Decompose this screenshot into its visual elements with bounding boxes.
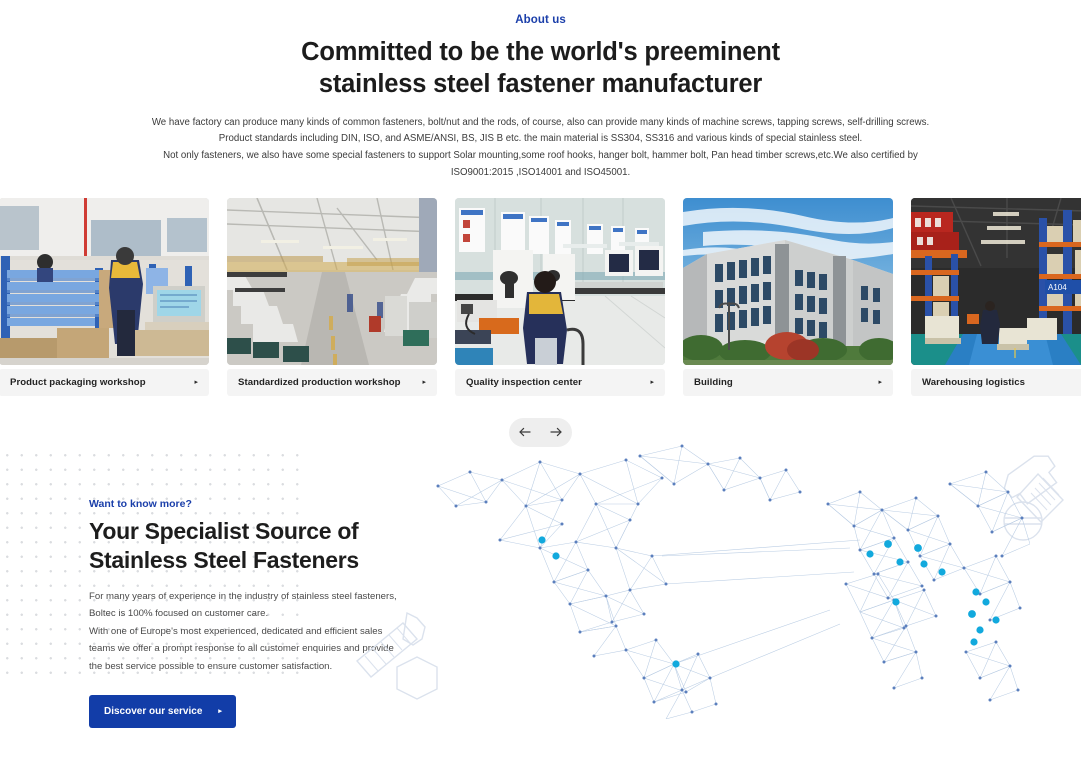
carousel-caption[interactable]: Quality inspection center ▸ xyxy=(455,369,665,396)
carousel-caption[interactable]: Standardized production workshop ▸ xyxy=(227,369,437,396)
about-eyebrow: About us xyxy=(0,14,1081,26)
about-paragraph: We have factory can produce many kinds o… xyxy=(0,115,1081,182)
quality-inspection-center-photo[interactable] xyxy=(455,198,665,365)
facility-carousel[interactable]: Product packaging workshop ▸ xyxy=(0,198,1081,396)
carousel-card[interactable]: Quality inspection center ▸ xyxy=(455,198,665,396)
about-copy-line-4: ISO9001:2015 ,ISO14001 and ISO45001. xyxy=(0,165,1081,182)
service-title-line-2: Stainless Steel Fasteners xyxy=(89,547,359,573)
carousel-caption[interactable]: Building ▸ xyxy=(683,369,893,396)
chevron-right-icon: ▸ xyxy=(650,379,654,386)
page-title: Committed to be the world's preeminent s… xyxy=(0,36,1081,101)
carousel-caption[interactable]: Product packaging workshop ▸ xyxy=(0,369,209,396)
chevron-right-icon: ▸ xyxy=(218,708,222,715)
carousel-caption-label: Building xyxy=(694,377,733,388)
global-network-map xyxy=(430,444,1030,719)
carousel-card[interactable]: A103 A104 xyxy=(911,198,1081,396)
carousel-caption-label: Product packaging workshop xyxy=(10,377,146,388)
cta-label: Discover our service xyxy=(104,706,202,717)
service-promo-section: Want to know more? Your Specialist Sourc… xyxy=(0,440,1081,757)
about-section: About us Committed to be the world's pre… xyxy=(0,0,1081,182)
about-copy-line-2: Product standards including DIN, ISO, an… xyxy=(0,131,1081,148)
standardized-production-workshop-photo[interactable] xyxy=(227,198,437,365)
carousel-caption-label: Standardized production workshop xyxy=(238,377,401,388)
carousel-card[interactable]: Product packaging workshop ▸ xyxy=(0,198,209,396)
svg-text:A104: A104 xyxy=(1048,283,1067,292)
chevron-right-icon: ▸ xyxy=(422,379,426,386)
warehousing-logistics-photo[interactable]: A103 A104 xyxy=(911,198,1081,365)
carousel-caption-label: Quality inspection center xyxy=(466,377,582,388)
headline-line-2: stainless steel fastener manufacturer xyxy=(319,70,762,98)
world-network-map-graphic xyxy=(430,444,1030,719)
map-nodes xyxy=(437,445,1024,714)
carousel-card[interactable]: Building ▸ xyxy=(683,198,893,396)
carousel-card[interactable]: Standardized production workshop ▸ xyxy=(227,198,437,396)
carousel-caption[interactable]: Warehousing logistics ▸ xyxy=(911,369,1081,396)
carousel-caption-label: Warehousing logistics xyxy=(922,377,1025,388)
map-connection-lines xyxy=(438,446,1030,719)
about-copy-line-3: Not only fasteners, we also have some sp… xyxy=(0,148,1081,165)
arrow-right-icon xyxy=(548,424,564,440)
building-photo[interactable] xyxy=(683,198,893,365)
service-promo-eyebrow: Want to know more? xyxy=(89,498,407,510)
chevron-right-icon: ▸ xyxy=(194,379,198,386)
about-copy-line-1: We have factory can produce many kinds o… xyxy=(0,115,1081,132)
product-packaging-workshop-photo[interactable] xyxy=(0,198,209,365)
service-promo-title: Your Specialist Source of Stainless Stee… xyxy=(89,517,407,576)
service-copy-line-1: For many years of experience in the indu… xyxy=(89,588,407,605)
service-title-line-1: Your Specialist Source of xyxy=(89,518,358,544)
discover-our-service-button[interactable]: Discover our service ▸ xyxy=(89,695,236,728)
headline-line-1: Committed to be the world's preeminent xyxy=(301,38,780,66)
arrow-left-icon xyxy=(517,424,533,440)
chevron-right-icon: ▸ xyxy=(878,379,882,386)
